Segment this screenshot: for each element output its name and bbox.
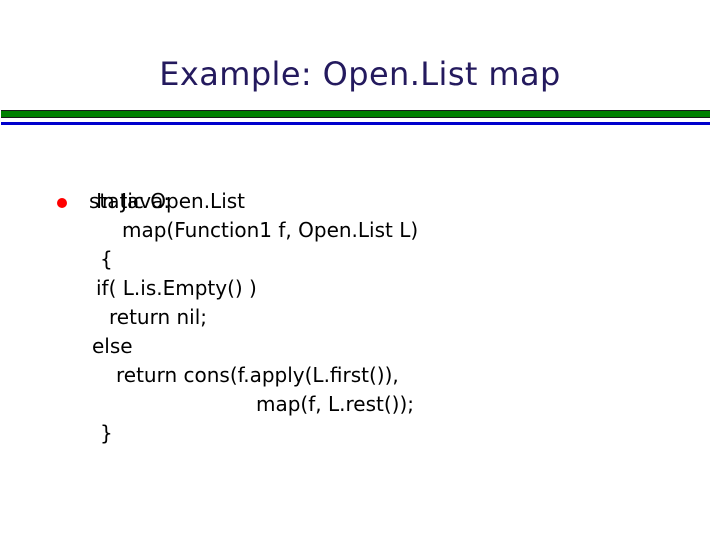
code-block: static Open.Listmap(Function1 f, Open.Li… xyxy=(0,187,720,448)
code-line: if( L.is.Empty() ) xyxy=(0,274,720,303)
code-line: else xyxy=(0,332,720,361)
page-title: Example: Open.List map xyxy=(0,54,720,94)
bulleted-code-line: static Open.List xyxy=(0,187,720,216)
divider-green-bar xyxy=(1,110,710,118)
code-line-text: map(f, L.rest()); xyxy=(256,390,414,419)
body-intro-line: In Java: xyxy=(0,158,720,187)
code-line: } xyxy=(0,419,720,448)
code-line: map(f, L.rest()); xyxy=(0,390,720,419)
code-line-text: } xyxy=(100,419,113,448)
code-line: return cons(f.apply(L.first()), xyxy=(0,361,720,390)
code-line-text: return cons(f.apply(L.first()), xyxy=(116,361,399,390)
code-line: map(Function1 f, Open.List L) xyxy=(0,216,720,245)
code-line-text: { xyxy=(100,245,113,274)
code-line: { xyxy=(0,245,720,274)
filled-circle-bullet-icon xyxy=(57,198,67,208)
slide-canvas: Example: Open.List map In Java: static O… xyxy=(0,0,720,540)
code-line-text: else xyxy=(92,332,133,361)
code-line-text: static Open.List xyxy=(89,187,245,216)
code-line-text: map(Function1 f, Open.List L) xyxy=(122,216,418,245)
divider-blue-line xyxy=(1,122,710,125)
code-line-text: if( L.is.Empty() ) xyxy=(96,274,257,303)
slide-body: In Java: static Open.Listmap(Function1 f… xyxy=(0,158,720,448)
code-line-text: return nil; xyxy=(109,303,207,332)
code-line: return nil; xyxy=(0,303,720,332)
title-divider xyxy=(1,110,710,126)
